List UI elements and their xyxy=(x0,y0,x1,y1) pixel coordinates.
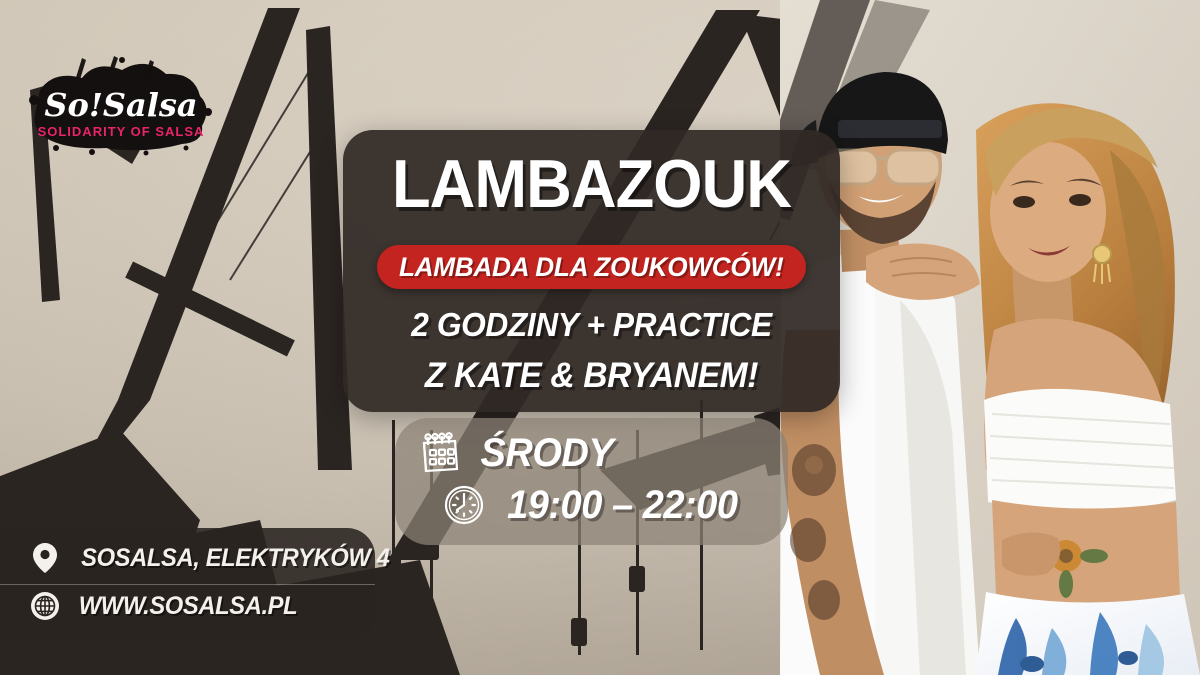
schedule-day-row: ŚRODY xyxy=(417,430,617,476)
subtitle-pill-label: LAMBADA DLA ZOUKOWCÓW! xyxy=(399,252,783,283)
detail-line-instructors: Z KATE & BRYANEM! xyxy=(353,356,830,396)
schedule-time-row: 19:00 – 22:00 xyxy=(441,482,744,528)
dance-couple-photo xyxy=(780,0,1200,675)
main-headline-panel: LAMBAZOUK LAMBADA DLA ZOUKOWCÓW! 2 GODZI… xyxy=(343,130,840,412)
logo-wordmark: So!Salsa xyxy=(44,86,197,124)
footer-location-label: SOSALSA, ELEKTRYKÓW 4 xyxy=(81,544,389,573)
footer-website-row[interactable]: WWW.SOSALSA.PL xyxy=(30,590,303,622)
brand-logo: So!Salsa SOLIDARITY OF SALSA xyxy=(26,56,216,156)
logo-tagline: SOLIDARITY OF SALSA xyxy=(38,124,205,139)
schedule-time-label: 19:00 – 22:00 xyxy=(507,483,737,528)
footer-location-row: SOSALSA, ELEKTRYKÓW 4 xyxy=(30,542,398,574)
schedule-day-label: ŚRODY xyxy=(480,431,613,476)
page-title: LAMBAZOUK xyxy=(360,152,822,217)
clock-icon xyxy=(441,482,487,528)
footer-contact-panel: SOSALSA, ELEKTRYKÓW 4 WWW.SOSALSA.PL xyxy=(0,528,375,641)
map-pin-icon xyxy=(30,542,60,574)
globe-icon xyxy=(30,590,60,622)
detail-line-duration: 2 GODZINY + PRACTICE xyxy=(353,306,830,344)
footer-divider xyxy=(0,584,375,585)
event-poster: So!Salsa SOLIDARITY OF SALSA LAMBAZOUK L… xyxy=(0,0,1200,675)
calendar-icon xyxy=(417,430,463,476)
subtitle-pill: LAMBADA DLA ZOUKOWCÓW! xyxy=(377,245,806,289)
footer-website-label: WWW.SOSALSA.PL xyxy=(79,592,298,621)
schedule-panel: ŚRODY xyxy=(395,418,788,545)
